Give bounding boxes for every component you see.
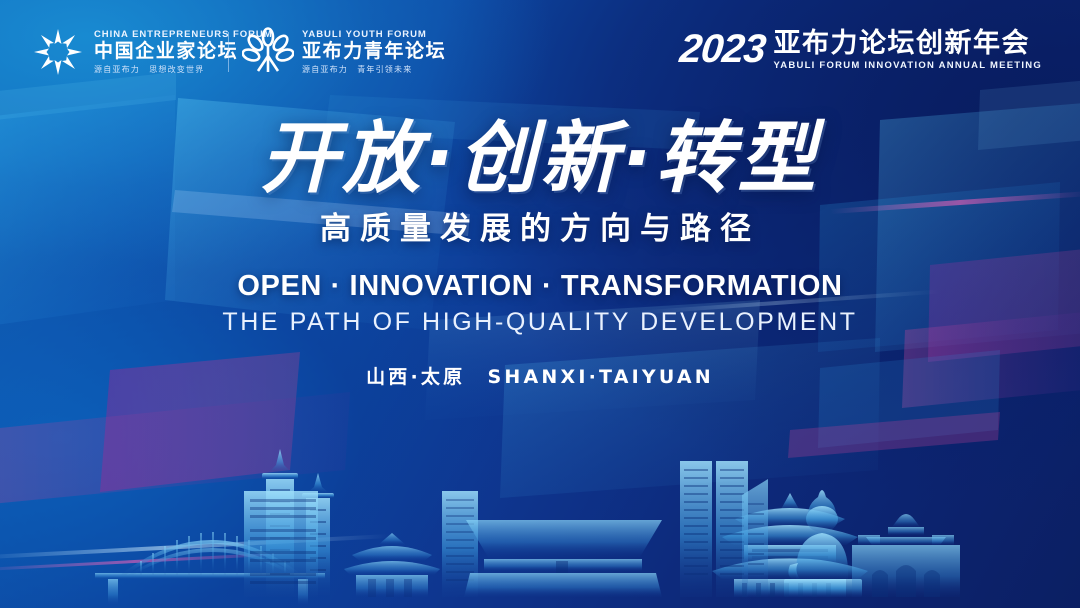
- landmark-twin-modern-towers: [680, 461, 748, 597]
- landmark-traditional-gate: [344, 533, 440, 597]
- event-name-cn: 亚布力论坛创新年会: [774, 30, 1042, 58]
- main-subtitle-cn: 高质量发展的方向与路径: [0, 211, 1080, 248]
- landmark-museum-trapezoid: [464, 520, 662, 597]
- logo-china-entrepreneurs-forum: CHINA ENTREPRENEURS FORUM 中国企业家论坛 源自亚布力 …: [30, 26, 273, 78]
- event-name-en: YABULI FORUM INNOVATION ANNUAL MEETING: [774, 58, 1042, 73]
- logo-right-tagline: 源自亚布力 青年引领未来: [302, 64, 446, 75]
- main-title-en: OPEN · INNOVATION · TRANSFORMATION: [0, 270, 1080, 303]
- banner-header: CHINA ENTREPRENEURS FORUM 中国企业家论坛 源自亚布力 …: [0, 0, 1080, 100]
- landmark-office-tower: [244, 491, 318, 597]
- event-identity: 2023 亚布力论坛创新年会 YABULI FORUM INNOVATION A…: [680, 30, 1042, 74]
- main-title-cn: 开放·创新·转型: [0, 118, 1080, 201]
- city-skyline: [0, 433, 1080, 608]
- event-location: 山西·太原 SHANXI·TAIYUAN: [0, 362, 1080, 389]
- landmark-sloped-skyscraper: [742, 479, 768, 597]
- logo-right-cn: 亚布力青年论坛: [302, 40, 446, 64]
- event-year: 2023: [678, 30, 767, 68]
- logo-divider: [228, 32, 229, 72]
- landmark-fortress-gate: [852, 514, 960, 597]
- sprout-leaf-icon: [242, 26, 294, 78]
- banner-main-content: 开放·创新·转型 高质量发展的方向与路径 OPEN · INNOVATION ·…: [0, 118, 1080, 389]
- logo-yabuli-youth-forum: YABULI YOUTH FORUM 亚布力青年论坛 源自亚布力 青年引领未来: [242, 26, 446, 78]
- eight-point-star-icon: [30, 26, 86, 78]
- event-banner: CHINA ENTREPRENEURS FORUM 中国企业家论坛 源自亚布力 …: [0, 0, 1080, 608]
- main-subtitle-en: THE PATH OF HIGH-QUALITY DEVELOPMENT: [0, 307, 1080, 337]
- logo-right-en: YABULI YOUTH FORUM: [302, 29, 446, 41]
